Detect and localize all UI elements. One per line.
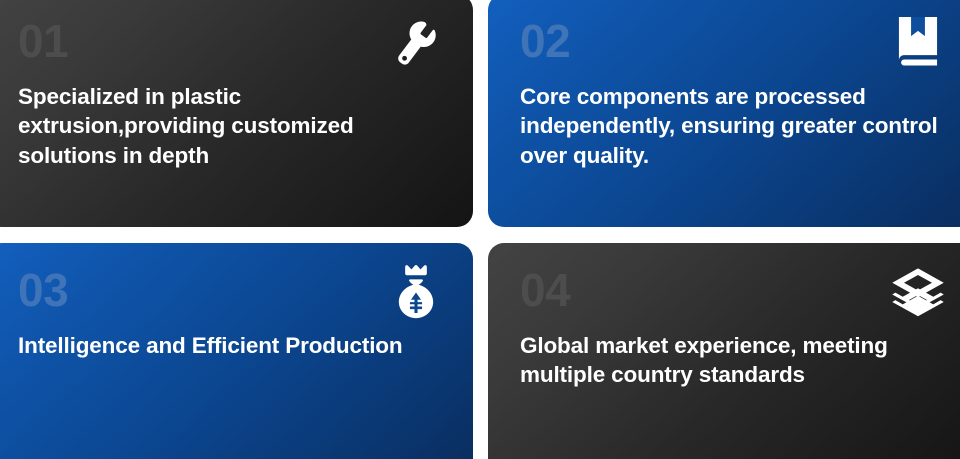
feature-card-02[interactable]: 02 Core components are processed indepen… [488, 0, 960, 227]
feature-card-01[interactable]: 01 Specialized in plastic extrusion,prov… [0, 0, 473, 227]
card-number-04: 04 [520, 267, 949, 313]
card-title-02: Core components are processed independen… [520, 82, 949, 170]
card-content-04: 04 Global market experience, meeting mul… [488, 243, 960, 459]
card-content-01: 01 Specialized in plastic extrusion,prov… [0, 0, 473, 227]
card-number-02: 02 [520, 18, 949, 64]
card-title-03: Intelligence and Efficient Production [18, 331, 447, 360]
feature-card-04[interactable]: 04 Global market experience, meeting mul… [488, 243, 960, 459]
card-content-02: 02 Core components are processed indepen… [488, 0, 960, 227]
feature-card-03[interactable]: 03 Intelligence and Efficient Production [0, 243, 473, 459]
card-number-01: 01 [18, 18, 447, 64]
feature-card-grid: 01 Specialized in plastic extrusion,prov… [0, 0, 960, 459]
card-content-03: 03 Intelligence and Efficient Production [0, 243, 473, 459]
card-title-01: Specialized in plastic extrusion,providi… [18, 82, 447, 170]
card-number-03: 03 [18, 267, 447, 313]
card-title-04: Global market experience, meeting multip… [520, 331, 949, 390]
